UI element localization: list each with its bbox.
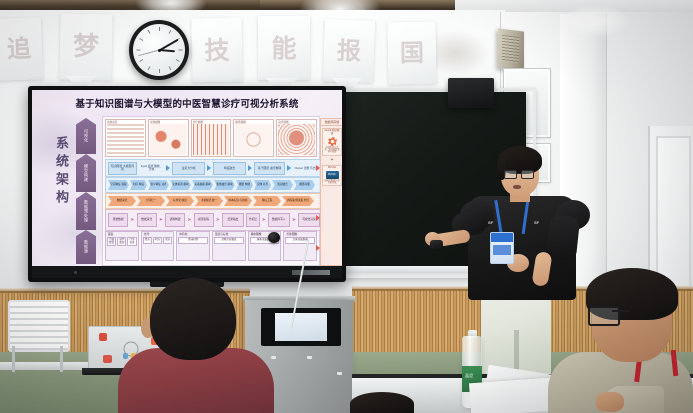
glasses-icon [504, 170, 517, 179]
calligraphy-banner: 报 [323, 19, 375, 83]
tv-screen: 基于知识图谱与大模型的中医智慧诊疗可视分析系统 系统架构 可视化 模型构建 数据… [32, 90, 342, 266]
source-item[interactable]: 性味归经 [178, 237, 208, 244]
pipeline-step[interactable]: 特征融合 [213, 162, 246, 175]
process-chevron[interactable]: 知识融合 [272, 180, 293, 190]
flow-box[interactable]: 分析层 [246, 213, 260, 227]
arrow-right-icon [287, 165, 291, 171]
architecture-layer-stack: 可视化 模型构建 数据预处理 数据源 [76, 118, 96, 262]
mysql-card[interactable]: MySQL MySQL 结构化数据与业务表存储 [322, 165, 342, 187]
database-storage-panel: 数据库存储 Neo4j 知识图谱 存储实体与关系，支持图谱查询与推理 + MyS… [320, 118, 342, 266]
flow-box[interactable]: 数据清洗 [137, 213, 157, 227]
process-chevron[interactable]: 图谱存储 [294, 180, 315, 190]
process-chevron[interactable]: 属性融合 模块 [214, 180, 235, 190]
vis-thumbnail-icon [107, 124, 144, 155]
presenter-mouth [513, 185, 521, 189]
presenter-sleeve [546, 215, 580, 262]
process-chevron[interactable]: 关系抽取 模块 [192, 180, 213, 190]
source-item[interactable]: 时方 [153, 237, 162, 244]
flow-overview-row: 原始数据 ➤ 数据清洗 ➤ 语料构建 ➤ 模型训练 ➤ 结果输出 分析层 ➤ 数… [105, 209, 323, 231]
vis-card[interactable]: 舟诊视图 [276, 119, 317, 157]
shirt-logo: SF [534, 220, 539, 225]
badge-body [493, 245, 511, 255]
tv-bezel-bottom [32, 266, 342, 278]
data-source-row: 医案 古籍医案 现代医案 门诊记录 方剂 经方 时方 [105, 231, 317, 261]
source-group: 量表与标准 诊断评分量表 [212, 231, 246, 261]
calligraphy-banner: 技 [191, 18, 242, 83]
glasses-icon [521, 170, 534, 179]
pipeline-step[interactable]: 知识图谱 大模型问答 [108, 162, 137, 175]
pipeline-step[interactable]: Input 症状 脉象、舌象 [139, 163, 164, 174]
wall-clock [129, 20, 189, 80]
process-chevron[interactable]: 图谱 构建 [236, 180, 253, 190]
visualization-card-row: 系统总览 主题视图 诊疗视图 图谱视图 舟诊视图 [105, 119, 317, 157]
storage-header: 数据库存储 [321, 119, 342, 126]
audience-right-hand [596, 392, 624, 412]
pipeline-step[interactable]: 注意力分析 [172, 162, 205, 175]
presentation-clicker[interactable] [430, 240, 443, 249]
glasses-icon [588, 306, 620, 326]
clock-hub [158, 49, 161, 52]
pipeline-step[interactable]: 基于图谱 进行推理 [254, 162, 285, 175]
preprocess-chevron[interactable]: 术语规范 统一 [195, 196, 223, 206]
vis-thumbnail-icon [235, 124, 272, 155]
preprocess-row: 数据清洗 分词归一 标准化 映射 术语规范 统一 样本标注 与校验 特征工程 训… [105, 193, 323, 209]
ceiling-monitor [448, 78, 494, 108]
source-item[interactable]: 经方 [143, 237, 152, 244]
source-item[interactable]: 验方 [163, 237, 172, 244]
laptop-sticker [103, 355, 112, 363]
preprocess-chevron[interactable]: 训练集/测试集 划分 [282, 196, 314, 206]
preprocess-chevron[interactable]: 分词归一 [137, 196, 165, 206]
flow-box[interactable]: 语料构建 [165, 213, 185, 227]
lectern-button[interactable] [271, 356, 276, 359]
lectern-touchscreen[interactable] [275, 313, 327, 341]
flow-box[interactable]: 原始数据 [108, 213, 128, 227]
flow-box[interactable]: 结果输出 [222, 213, 244, 227]
process-chevron[interactable]: 空间特征 提取 [108, 180, 129, 190]
layer-chevron-datasource[interactable]: 数据源 [76, 230, 96, 264]
wall-seam [606, 14, 607, 314]
layer-chevron-model[interactable]: 模型构建 [76, 154, 96, 192]
audience-bottom-center [350, 392, 414, 413]
lectern-button[interactable] [337, 372, 342, 375]
arrow-right-icon: ➤ [292, 218, 296, 223]
layer-chevron-visualization[interactable]: 可视化 [76, 118, 96, 154]
calligraphy-banner: 国 [387, 22, 436, 85]
arrow-right-icon: ➤ [130, 218, 134, 223]
process-chevron[interactable]: 实体识别 模块 [170, 180, 191, 190]
arrow-right-icon: ➤ [187, 218, 191, 223]
slide-vertical-label: 系统架构 [48, 136, 70, 208]
audience-left-head [150, 278, 236, 360]
vis-thumbnail-icon [193, 124, 230, 155]
process-chevron[interactable]: 时序 特征 [130, 180, 147, 190]
flow-box[interactable]: 模型训练 [194, 213, 214, 227]
classroom-presentation-scene: 追 梦 技 能 报 国 [0, 0, 693, 413]
clock-second-hand [138, 50, 160, 57]
id-badge [490, 232, 514, 264]
laptop-sticker [99, 333, 107, 341]
knowledge-extraction-row: 空间特征 提取 时序 特征 语义特征 对齐 实体识别 模块 关系抽取 模块 属性… [105, 177, 323, 193]
plus-icon: + [321, 158, 342, 163]
preprocess-chevron[interactable]: 样本标注 与校验 [224, 196, 252, 206]
arrow-right-icon: ➤ [216, 218, 220, 223]
vis-thumbnail-icon [278, 124, 315, 155]
source-group: 方剂 经方 时方 验方 [141, 231, 175, 261]
clock-face [133, 24, 185, 76]
source-group: 舌象图像 舌象采集数据 [283, 231, 317, 261]
arrow-right-icon: ➤ [159, 218, 163, 223]
vis-card[interactable]: 主题视图 [148, 119, 189, 157]
tv-power-led [74, 271, 77, 274]
flow-box[interactable]: 数据库写入 [268, 213, 290, 227]
wall-tv-display[interactable]: 基于知识图谱与大模型的中医智慧诊疗可视分析系统 系统架构 可视化 模型构建 数据… [28, 86, 346, 282]
vis-card[interactable]: 诊疗视图 [191, 119, 232, 157]
layer-chevron-preprocess[interactable]: 数据预处理 [76, 192, 96, 230]
source-item[interactable]: 门诊记录 [127, 237, 136, 246]
vis-card[interactable]: 图谱视图 [233, 119, 274, 157]
source-item[interactable]: 诊断评分量表 [214, 237, 244, 244]
slide-title: 基于知识图谱与大模型的中医智慧诊疗可视分析系统 [52, 95, 322, 110]
source-group: 医案 古籍医案 现代医案 门诊记录 [105, 231, 139, 261]
preprocess-chevron[interactable]: 特征工程 [253, 196, 281, 206]
wall-speaker [498, 28, 524, 71]
glasses-bridge-icon [516, 173, 521, 174]
arrow-right-icon [316, 165, 320, 171]
white-chair[interactable] [8, 300, 70, 372]
neo4j-logo-icon [328, 137, 337, 146]
ceiling-light [560, 4, 630, 38]
preprocess-chevron[interactable]: 数据清洗 [108, 196, 136, 206]
arrow-right-icon [166, 165, 170, 171]
laptop-sticker [123, 353, 128, 359]
source-item[interactable]: 现代医案 [117, 237, 126, 246]
badge-header [491, 233, 513, 242]
source-item[interactable]: 舌象采集数据 [285, 237, 315, 244]
chair-back [8, 300, 70, 352]
source-item[interactable]: 古籍医案 [107, 237, 116, 246]
speaker-grille-icon [502, 35, 519, 63]
lectern-button[interactable] [307, 356, 312, 359]
mysql-logo-icon: MySQL [326, 171, 339, 179]
calligraphy-banner: 梦 [59, 14, 112, 81]
source-group: 中药材 性味归经 [176, 231, 210, 261]
process-chevron[interactable]: 语义特征 对齐 [148, 180, 169, 190]
arrow-right-icon [207, 165, 211, 171]
arrow-right-icon [248, 165, 252, 171]
calligraphy-banner: 能 [258, 16, 310, 80]
presentation-slide: 基于知识图谱与大模型的中医智慧诊疗可视分析系统 系统架构 可视化 模型构建 数据… [32, 90, 342, 266]
arrow-right-icon [316, 245, 320, 251]
lectern-monitor-frame [261, 308, 341, 346]
shirt-logo: SF [488, 220, 493, 225]
arrow-right-icon [316, 215, 320, 221]
tv-brand-logo [292, 270, 330, 275]
architecture-board: 系统总览 主题视图 诊疗视图 图谱视图 舟诊视图 [102, 116, 320, 266]
arrow-right-icon: ➤ [262, 218, 266, 223]
model-pipeline-row: 知识图谱 大模型问答 Input 症状 脉象、舌象 注意力分析 特征融合 基于图… [105, 159, 323, 177]
preprocess-chevron[interactable]: 标准化 映射 [166, 196, 194, 206]
calligraphy-banner: 追 [0, 17, 43, 81]
process-chevron[interactable]: 实体 对齐 [254, 180, 271, 190]
neo4j-card[interactable]: Neo4j 知识图谱 存储实体与关系，支持图谱查询与推理 [322, 128, 342, 156]
microphone-head-icon [268, 232, 280, 243]
glasses-temple-icon [612, 310, 630, 312]
vis-card[interactable]: 系统总览 [105, 119, 146, 157]
vis-thumbnail-icon [150, 124, 187, 155]
